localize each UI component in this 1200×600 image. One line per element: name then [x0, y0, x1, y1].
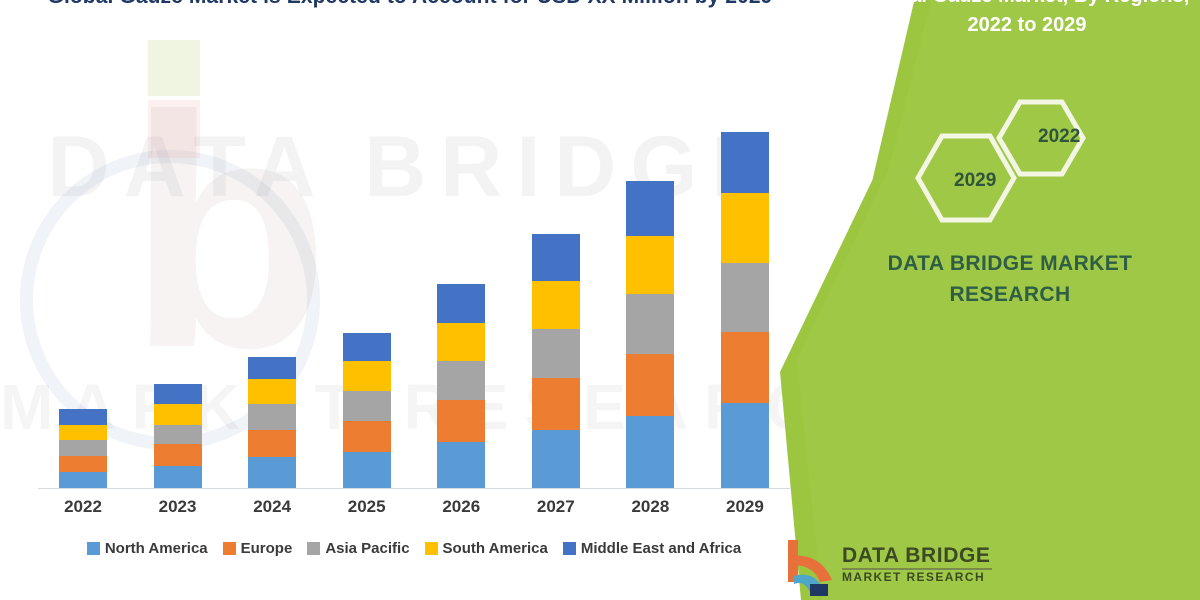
bar-segment	[343, 333, 391, 361]
hex-label-2029: 2029	[954, 170, 996, 192]
legend-item[interactable]: South America	[425, 540, 548, 557]
legend-item[interactable]: Asia Pacific	[307, 540, 409, 557]
legend-item[interactable]: Middle East and Africa	[563, 540, 741, 557]
bar-segment	[626, 354, 674, 417]
stacked-bar-2025	[343, 333, 391, 488]
bar-column	[227, 120, 317, 488]
legend-swatch-icon	[87, 542, 100, 555]
x-axis-label: 2027	[511, 497, 601, 517]
x-axis-label: 2028	[605, 497, 695, 517]
x-axis-label: 2026	[416, 497, 506, 517]
bar-column	[38, 120, 128, 488]
bar-segment	[248, 457, 296, 488]
bar-column	[322, 120, 412, 488]
bar-segment	[343, 421, 391, 451]
bar-segment	[532, 234, 580, 281]
legend-item[interactable]: North America	[87, 540, 208, 557]
stacked-bar-2026	[437, 284, 485, 488]
page-title: Global Gauze Market is Expected to Accou…	[40, 0, 780, 12]
bar-segment	[437, 400, 485, 441]
hexagon-group: 2022 2029	[902, 98, 1122, 228]
bar-segment	[437, 284, 485, 322]
panel-title: Global Gauze Market, By Regions, 2022 to…	[862, 0, 1192, 40]
bar-segment	[59, 425, 107, 440]
bar-segment	[59, 472, 107, 488]
bar-segment	[626, 416, 674, 488]
bar-column	[133, 120, 223, 488]
bar-segment	[154, 466, 202, 488]
bar-segment	[626, 181, 674, 236]
x-axis-label: 2024	[227, 497, 317, 517]
bar-segment	[343, 361, 391, 391]
legend-label: South America	[443, 540, 548, 557]
x-axis-line	[38, 488, 790, 489]
logo-mark-icon	[780, 536, 840, 596]
x-axis-label: 2023	[133, 497, 223, 517]
legend-swatch-icon	[425, 542, 438, 555]
legend-item[interactable]: Europe	[223, 540, 293, 557]
bar-segment	[437, 361, 485, 400]
chart-legend: North AmericaEuropeAsia PacificSouth Ame…	[38, 540, 790, 557]
legend-label: Europe	[241, 540, 293, 557]
bar-segment	[532, 281, 580, 328]
bar-segment	[437, 323, 485, 361]
legend-swatch-icon	[307, 542, 320, 555]
chart-plot-area	[38, 120, 790, 489]
bar-segment	[154, 425, 202, 444]
bar-segment	[59, 409, 107, 424]
bar-segment	[532, 378, 580, 429]
x-axis-labels: 20222023202420252026202720282029	[38, 497, 790, 517]
bar-column	[511, 120, 601, 488]
bar-segment	[343, 452, 391, 488]
bar-segment	[532, 430, 580, 488]
bar-segment	[154, 444, 202, 466]
bar-segment	[59, 456, 107, 472]
stacked-bar-group	[38, 120, 790, 488]
infographic-root: b DATA BRIDGE MARKET RESEARCH Global Gau…	[0, 0, 1200, 600]
bar-segment	[626, 294, 674, 353]
bar-column	[605, 120, 695, 488]
x-axis-label: 2029	[700, 497, 790, 517]
bar-segment	[59, 440, 107, 456]
bar-segment	[721, 263, 769, 332]
legend-label: North America	[105, 540, 208, 557]
bar-segment	[532, 329, 580, 378]
watermark-green-block	[148, 40, 200, 96]
bar-segment	[154, 404, 202, 424]
x-axis-label: 2022	[38, 497, 128, 517]
bar-segment	[248, 357, 296, 379]
stacked-bar-2022	[59, 409, 107, 488]
legend-label: Middle East and Africa	[581, 540, 741, 557]
logo-subtitle: MARKET RESEARCH	[842, 570, 985, 584]
hex-label-2022: 2022	[1038, 126, 1080, 148]
data-bridge-logo: DATA BRIDGE MARKET RESEARCH	[780, 536, 1080, 600]
stacked-bar-2023	[154, 384, 202, 488]
stacked-bar-2027	[532, 234, 580, 488]
bar-segment	[248, 404, 296, 429]
bar-segment	[248, 379, 296, 404]
bar-segment	[721, 403, 769, 488]
bar-segment	[721, 132, 769, 192]
bar-column	[700, 120, 790, 488]
stacked-bar-2028	[626, 181, 674, 488]
brand-name: DATA BRIDGE MARKET RESEARCH	[860, 248, 1160, 310]
stacked-bar-2029	[721, 132, 769, 488]
bar-segment	[248, 430, 296, 457]
bar-segment	[626, 236, 674, 294]
bar-segment	[721, 332, 769, 404]
x-axis-label: 2025	[322, 497, 412, 517]
logo-title: DATA BRIDGE	[842, 544, 991, 568]
bar-segment	[154, 384, 202, 404]
legend-swatch-icon	[223, 542, 236, 555]
bar-segment	[343, 391, 391, 421]
bar-segment	[437, 442, 485, 488]
hexagon-icon	[902, 98, 1122, 228]
bar-segment	[721, 193, 769, 264]
bar-column	[416, 120, 506, 488]
legend-swatch-icon	[563, 542, 576, 555]
legend-label: Asia Pacific	[325, 540, 409, 557]
stacked-bar-2024	[248, 357, 296, 488]
